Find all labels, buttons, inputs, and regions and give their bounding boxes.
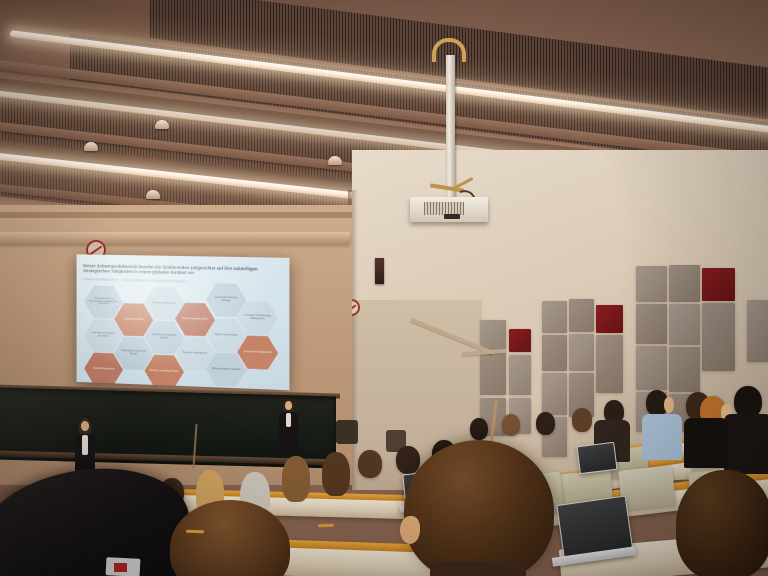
acoustic-panel bbox=[669, 304, 700, 345]
left-wall-seam bbox=[0, 212, 352, 218]
stage-chair bbox=[336, 420, 358, 444]
ceiling-dome-sensor bbox=[84, 142, 98, 151]
acoustic-panel bbox=[596, 335, 623, 393]
audience-torso bbox=[724, 414, 768, 474]
foreground-ear bbox=[400, 516, 420, 544]
presenter-shirt bbox=[82, 435, 88, 455]
acoustic-panel-accent bbox=[509, 329, 531, 352]
acoustic-panel bbox=[542, 335, 567, 371]
slide-surface: Dieser Schwerpunktbereich bereitet die S… bbox=[77, 254, 290, 390]
ceiling-dome-sensor bbox=[155, 120, 169, 129]
acoustic-panel bbox=[509, 355, 531, 395]
presenter-head bbox=[81, 421, 89, 431]
foreground-neck bbox=[430, 562, 526, 576]
ceiling-dome-sensor bbox=[328, 156, 342, 165]
acoustic-panel bbox=[480, 353, 506, 395]
audience-head bbox=[572, 408, 592, 432]
wall-speaker bbox=[375, 258, 384, 284]
lecture-hall-photo: Dieser Schwerpunktbereich bereitet die S… bbox=[0, 0, 768, 576]
audience-head bbox=[536, 412, 555, 435]
presenter-head bbox=[285, 401, 292, 410]
acoustic-panel bbox=[669, 265, 700, 302]
foreground-head-center bbox=[404, 440, 554, 576]
acoustic-panel bbox=[480, 320, 506, 350]
ceiling-dome-sensor bbox=[146, 190, 160, 199]
desk-pen[interactable] bbox=[186, 530, 204, 534]
audience-torso bbox=[642, 414, 682, 460]
desk-pen[interactable] bbox=[318, 524, 334, 528]
acoustic-panel-accent bbox=[596, 305, 623, 333]
presenter-shirt bbox=[286, 413, 291, 427]
audience-head bbox=[470, 418, 488, 440]
audience-head bbox=[358, 450, 382, 478]
slide-hexagon: Sustainable Business Strategy bbox=[206, 283, 246, 318]
acoustic-panel-accent bbox=[702, 268, 735, 301]
slide-hexagon: Praxisorientierte & internationale Manag… bbox=[84, 285, 123, 320]
audience-hair bbox=[282, 456, 310, 502]
acoustic-panel bbox=[569, 334, 594, 371]
audience-hair bbox=[322, 452, 350, 496]
projection-screen: Dieser Schwerpunktbereich bereitet die S… bbox=[77, 254, 290, 390]
acoustic-panel bbox=[636, 266, 667, 302]
laptop-right[interactable] bbox=[576, 442, 617, 474]
acoustic-panel bbox=[669, 347, 700, 392]
slide-hexagon: Strategy Consulting Projects bbox=[144, 354, 184, 389]
left-wall-band bbox=[0, 232, 350, 244]
acoustic-panel bbox=[542, 373, 567, 415]
presenter-left bbox=[72, 418, 98, 472]
slide-hexagon-diagram: Praxisorientierte & internationale Manag… bbox=[80, 285, 285, 387]
presenter-right bbox=[277, 399, 301, 451]
acoustic-panel bbox=[702, 303, 735, 371]
audience-head bbox=[502, 414, 520, 436]
acoustic-panel bbox=[542, 301, 567, 333]
acoustic-panel bbox=[569, 299, 594, 332]
foreground-head-right bbox=[676, 470, 768, 576]
acoustic-panel bbox=[636, 304, 667, 344]
acoustic-panel bbox=[636, 346, 667, 390]
acoustic-panel bbox=[747, 300, 768, 362]
slide-hexagon: Innovation & Technology Management bbox=[237, 300, 278, 336]
audience-face bbox=[664, 397, 674, 413]
projector-mount-pole bbox=[446, 55, 455, 200]
projector-lens-housing bbox=[444, 214, 460, 219]
foreground-red-marker bbox=[114, 563, 127, 572]
audience-torso bbox=[684, 418, 728, 468]
slide-title: Dieser Schwerpunktbereich bereitet die S… bbox=[83, 263, 281, 278]
